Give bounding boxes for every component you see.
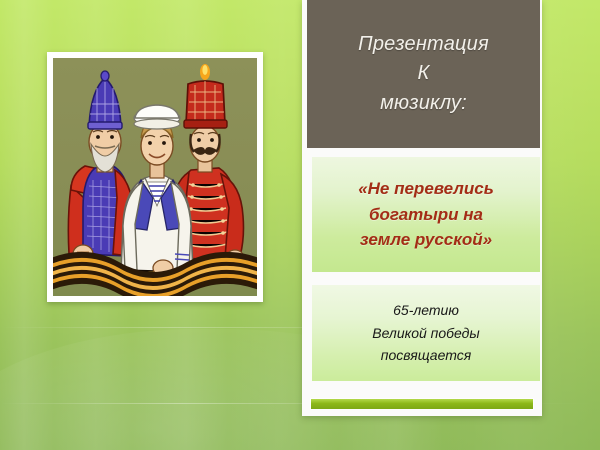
quote-block: «Не перевелись богатыри на земле русской… <box>312 157 540 272</box>
dedication-line-3: посвящается <box>372 344 479 367</box>
dedication-line-1: 65-летию <box>372 299 479 322</box>
musical-quote: «Не перевелись богатыри на земле русской… <box>352 176 500 253</box>
presentation-title: Презентация К мюзиклу: <box>350 30 497 119</box>
photo-frame <box>47 52 263 302</box>
content-panel: Презентация К мюзиклу: «Не перевелись бо… <box>302 0 542 416</box>
quote-line-1: «Не перевелись <box>358 176 494 202</box>
dedication-text: 65-летию Великой победы посвящается <box>372 299 479 367</box>
title-line-3: мюзиклу: <box>358 89 489 119</box>
photo-image <box>53 58 257 296</box>
title-line-1: Презентация <box>358 30 489 60</box>
title-line-2: К <box>358 59 489 89</box>
quote-line-2: богатыри на <box>358 202 494 228</box>
dedication-line-2: Великой победы <box>372 322 479 345</box>
dedication-block: 65-летию Великой победы посвящается <box>312 285 540 381</box>
three-warriors-illustration-icon <box>53 58 257 296</box>
presentation-slide: Презентация К мюзиклу: «Не перевелись бо… <box>0 0 600 450</box>
accent-bar <box>311 399 533 409</box>
title-block: Презентация К мюзиклу: <box>307 0 540 148</box>
quote-line-3: земле русской» <box>358 227 494 253</box>
